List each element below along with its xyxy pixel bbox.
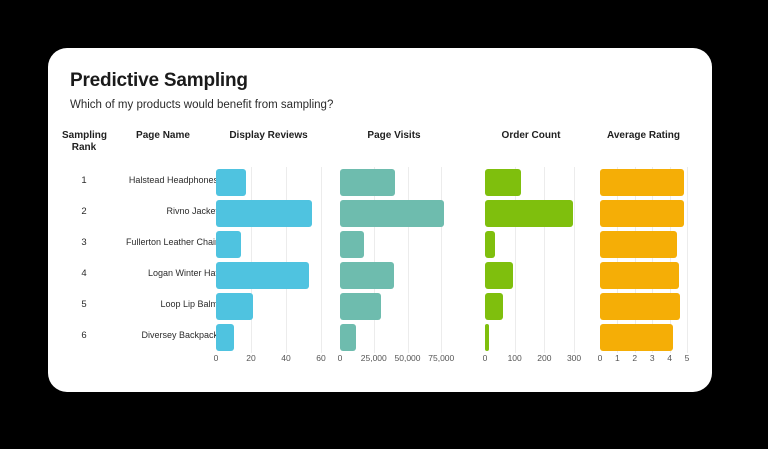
bar[interactable] bbox=[485, 169, 521, 196]
axis-tick-label: 0 bbox=[214, 353, 219, 363]
bar[interactable] bbox=[340, 324, 356, 351]
gridline bbox=[687, 229, 688, 260]
bar-cell-order-count bbox=[485, 260, 577, 291]
axis-tick-label: 200 bbox=[537, 353, 551, 363]
bar-cell-page-visits bbox=[340, 229, 448, 260]
table-row[interactable]: 6Diversey Backpack bbox=[48, 322, 712, 353]
bar-cell-order-count bbox=[485, 322, 577, 353]
axis-tick-label: 75,000 bbox=[428, 353, 454, 363]
axis-tick-label: 100 bbox=[508, 353, 522, 363]
row-rank: 5 bbox=[62, 299, 106, 310]
bar-cell-order-count bbox=[485, 198, 577, 229]
bar-cell-page-visits bbox=[340, 322, 448, 353]
row-rank: 4 bbox=[62, 268, 106, 279]
row-rank: 2 bbox=[62, 206, 106, 217]
row-page-name: Rivno Jacket bbox=[108, 206, 218, 216]
gridline bbox=[515, 260, 516, 291]
row-page-name: Loop Lip Balm bbox=[108, 299, 218, 309]
gridline bbox=[441, 322, 442, 353]
gridline bbox=[321, 229, 322, 260]
row-page-name: Halstead Headphones bbox=[108, 175, 218, 185]
gridline bbox=[687, 167, 688, 198]
axis-tick-label: 4 bbox=[667, 353, 672, 363]
row-page-name: Logan Winter Hat bbox=[108, 268, 218, 278]
axis-tick-label: 2 bbox=[632, 353, 637, 363]
gridline bbox=[515, 291, 516, 322]
gridline bbox=[574, 291, 575, 322]
bar-cell-average-rating bbox=[600, 229, 687, 260]
axis-row: 0204060025,00050,00075,00001002003000123… bbox=[48, 353, 712, 373]
bar[interactable] bbox=[340, 293, 381, 320]
row-page-name: Fullerton Leather Chair bbox=[108, 237, 218, 247]
bar-cell-average-rating bbox=[600, 167, 687, 198]
gridline bbox=[286, 167, 287, 198]
row-page-name: Diversey Backpack bbox=[108, 330, 218, 340]
bar-cell-page-visits bbox=[340, 260, 448, 291]
bar-cell-average-rating bbox=[600, 198, 687, 229]
gridline bbox=[441, 260, 442, 291]
column-header-average-rating: Average Rating bbox=[570, 130, 717, 142]
gridline bbox=[441, 167, 442, 198]
bar-cell-average-rating bbox=[600, 260, 687, 291]
gridline bbox=[574, 229, 575, 260]
gridline bbox=[574, 322, 575, 353]
bar-cell-display-reviews bbox=[216, 229, 321, 260]
axis-tick-label: 1 bbox=[615, 353, 620, 363]
bar-cell-average-rating bbox=[600, 291, 687, 322]
gridline bbox=[574, 198, 575, 229]
bar[interactable] bbox=[600, 200, 684, 227]
table-row[interactable]: 1Halstead Headphones bbox=[48, 167, 712, 198]
bar-cell-order-count bbox=[485, 167, 577, 198]
gridline bbox=[251, 167, 252, 198]
bar-cell-page-visits bbox=[340, 167, 448, 198]
bar-cell-average-rating bbox=[600, 322, 687, 353]
table-row[interactable]: 4Logan Winter Hat bbox=[48, 260, 712, 291]
bar[interactable] bbox=[600, 293, 680, 320]
gridline bbox=[687, 322, 688, 353]
bar-cell-display-reviews bbox=[216, 198, 321, 229]
row-rank: 1 bbox=[62, 175, 106, 186]
gridline bbox=[286, 322, 287, 353]
table-row[interactable]: 2Rivno Jacket bbox=[48, 198, 712, 229]
bar[interactable] bbox=[485, 200, 573, 227]
bar-cell-display-reviews bbox=[216, 260, 321, 291]
axis-tick-label: 0 bbox=[483, 353, 488, 363]
axis-tick-label: 0 bbox=[338, 353, 343, 363]
gridline bbox=[687, 291, 688, 322]
bar-cell-display-reviews bbox=[216, 322, 321, 353]
gridline bbox=[321, 198, 322, 229]
gridline bbox=[251, 322, 252, 353]
gridline bbox=[286, 229, 287, 260]
gridline bbox=[286, 291, 287, 322]
gridline bbox=[441, 229, 442, 260]
axis-tick-label: 50,000 bbox=[395, 353, 421, 363]
axis-tick-label: 0 bbox=[598, 353, 603, 363]
axis-tick-label: 300 bbox=[567, 353, 581, 363]
bar[interactable] bbox=[600, 231, 677, 258]
gridline bbox=[374, 322, 375, 353]
axis-tick-label: 25,000 bbox=[361, 353, 387, 363]
gridline bbox=[515, 229, 516, 260]
report-card: Predictive Sampling Which of my products… bbox=[48, 48, 712, 392]
gridline bbox=[321, 167, 322, 198]
bar[interactable] bbox=[340, 169, 395, 196]
gridline bbox=[321, 322, 322, 353]
gridline bbox=[408, 291, 409, 322]
bar[interactable] bbox=[485, 324, 489, 351]
gridline bbox=[408, 229, 409, 260]
bar-cell-display-reviews bbox=[216, 291, 321, 322]
bar[interactable] bbox=[600, 262, 679, 289]
bar[interactable] bbox=[340, 262, 394, 289]
gridline bbox=[687, 260, 688, 291]
gridline bbox=[574, 167, 575, 198]
gridline bbox=[321, 260, 322, 291]
bar[interactable] bbox=[216, 262, 309, 289]
bar[interactable] bbox=[340, 231, 364, 258]
bar[interactable] bbox=[216, 293, 253, 320]
column-header-row: SamplingRankPage NameDisplay ReviewsPage… bbox=[48, 130, 712, 160]
gridline bbox=[544, 322, 545, 353]
gridline bbox=[544, 229, 545, 260]
bar-cell-page-visits bbox=[340, 291, 448, 322]
gridline bbox=[687, 198, 688, 229]
bar[interactable] bbox=[216, 200, 312, 227]
row-rank: 3 bbox=[62, 237, 106, 248]
axis-tick-label: 20 bbox=[246, 353, 255, 363]
bar[interactable] bbox=[216, 231, 241, 258]
bar[interactable] bbox=[600, 324, 673, 351]
bar[interactable] bbox=[340, 200, 444, 227]
gridline bbox=[408, 167, 409, 198]
axis-tick-label: 3 bbox=[650, 353, 655, 363]
table-row[interactable]: 5Loop Lip Balm bbox=[48, 291, 712, 322]
bar-cell-display-reviews bbox=[216, 167, 321, 198]
axis-tick-label: 40 bbox=[281, 353, 290, 363]
gridline bbox=[544, 167, 545, 198]
gridline bbox=[251, 229, 252, 260]
bar-cell-order-count bbox=[485, 291, 577, 322]
gridline bbox=[408, 260, 409, 291]
bar[interactable] bbox=[216, 324, 234, 351]
gridline bbox=[574, 260, 575, 291]
bar[interactable] bbox=[216, 169, 246, 196]
bar[interactable] bbox=[485, 231, 495, 258]
row-rank: 6 bbox=[62, 330, 106, 341]
bar[interactable] bbox=[485, 293, 503, 320]
gridline bbox=[515, 322, 516, 353]
axis-tick-label: 5 bbox=[685, 353, 690, 363]
axis-tick-label: 60 bbox=[316, 353, 325, 363]
page-title: Predictive Sampling bbox=[70, 70, 248, 92]
gridline bbox=[441, 291, 442, 322]
bar-cell-order-count bbox=[485, 229, 577, 260]
bar[interactable] bbox=[485, 262, 513, 289]
gridline bbox=[321, 291, 322, 322]
column-header-page-visits: Page Visits bbox=[310, 130, 478, 142]
table-row[interactable]: 3Fullerton Leather Chair bbox=[48, 229, 712, 260]
bar-cell-page-visits bbox=[340, 198, 448, 229]
bar[interactable] bbox=[600, 169, 684, 196]
gridline bbox=[408, 322, 409, 353]
gridline bbox=[544, 291, 545, 322]
column-header-sampling-rank: SamplingRank bbox=[62, 130, 106, 153]
page-subtitle: Which of my products would benefit from … bbox=[70, 99, 333, 111]
gridline bbox=[374, 229, 375, 260]
gridline bbox=[544, 260, 545, 291]
